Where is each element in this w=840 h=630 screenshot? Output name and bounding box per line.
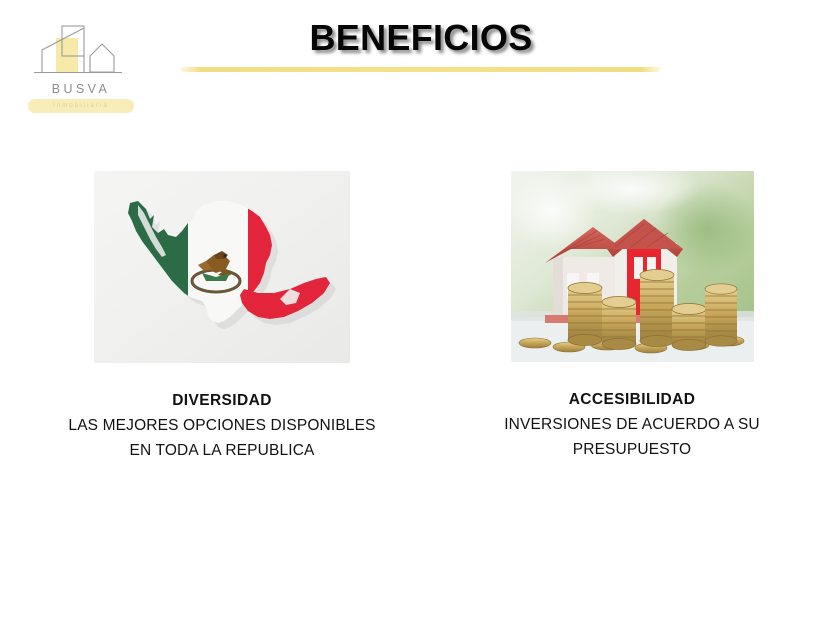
- benefit-line: INVERSIONES DE ACUERDO A SU: [438, 412, 826, 437]
- house-and-coins-image: [511, 171, 754, 362]
- benefit-caption-accesibilidad: ACCESIBILIDAD INVERSIONES DE ACUERDO A S…: [438, 388, 826, 462]
- slide-beneficios: BUSVA Inmobiliaria BENEFICIOS: [0, 0, 840, 630]
- benefit-caption-diversidad: DIVERSIDAD LAS MEJORES OPCIONES DISPONIB…: [22, 389, 422, 463]
- benefit-column-diversidad: DIVERSIDAD LAS MEJORES OPCIONES DISPONIB…: [22, 171, 422, 463]
- brand-name: BUSVA: [22, 82, 140, 96]
- title-underline-rule: [181, 67, 660, 72]
- benefit-line: PRESUPUESTO: [438, 437, 826, 462]
- benefit-column-accesibilidad: ACCESIBILIDAD INVERSIONES DE ACUERDO A S…: [438, 171, 826, 462]
- benefit-title: DIVERSIDAD: [22, 389, 422, 413]
- brand-logo: BUSVA Inmobiliaria: [22, 22, 140, 117]
- benefit-line: EN TODA LA REPUBLICA: [22, 438, 422, 463]
- page-title: BENEFICIOS: [180, 16, 662, 60]
- brand-tagline: Inmobiliaria: [28, 99, 134, 113]
- benefit-line: LAS MEJORES OPCIONES DISPONIBLES: [22, 413, 422, 438]
- mexico-flag-map-image: [94, 171, 350, 363]
- building-outline-icon: [22, 22, 140, 84]
- benefit-title: ACCESIBILIDAD: [438, 388, 826, 412]
